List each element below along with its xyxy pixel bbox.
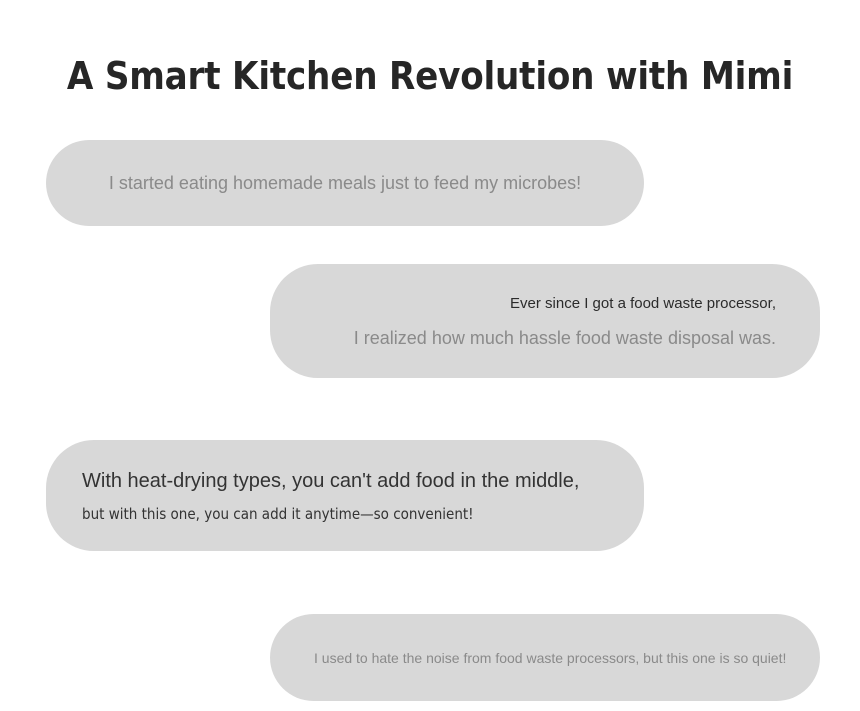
chat-bubble-1[interactable]: I started eating homemade meals just to …: [46, 140, 644, 226]
page-root: A Smart Kitchen Revolution with Mimi I s…: [0, 0, 860, 711]
chat-bubble-3[interactable]: With heat-drying types, you can't add fo…: [46, 440, 644, 551]
chat-bubble-2-line-2: I realized how much hassle food waste di…: [314, 325, 776, 351]
chat-bubble-2[interactable]: Ever since I got a food waste processor,…: [270, 264, 820, 378]
chat-bubble-4[interactable]: I used to hate the noise from food waste…: [270, 614, 820, 701]
chat-bubble-2-line-1: Ever since I got a food waste processor,: [314, 292, 776, 316]
chat-bubble-3-line-1: With heat-drying types, you can't add fo…: [82, 466, 608, 496]
page-title: A Smart Kitchen Revolution with Mimi: [0, 52, 860, 100]
chat-bubble-4-line-1: I used to hate the noise from food waste…: [314, 647, 776, 669]
chat-bubble-1-line-1: I started eating homemade meals just to …: [82, 170, 608, 196]
chat-bubble-3-line-2: but with this one, you can add it anytim…: [82, 502, 608, 526]
